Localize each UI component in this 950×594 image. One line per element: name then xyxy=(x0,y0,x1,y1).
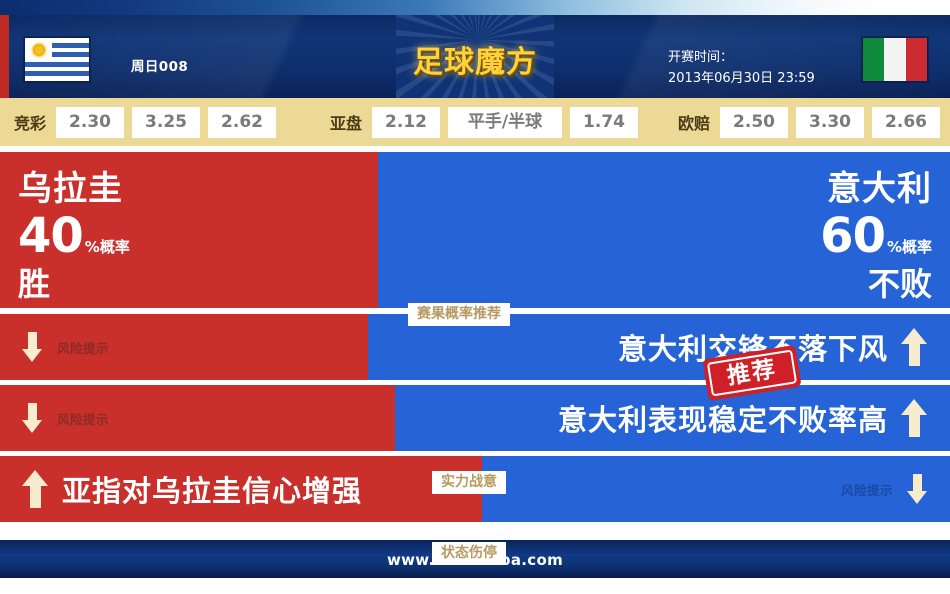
home-probability-line: 40%概率 xyxy=(18,212,130,260)
section-chip-strength[interactable]: 实力战意 xyxy=(432,471,506,494)
brand-logo[interactable]: 足球魔方 xyxy=(396,15,554,98)
arrow-down-icon xyxy=(22,332,43,362)
arrow-down-icon xyxy=(22,403,43,433)
probability-panel: 乌拉圭 40%概率 胜 意大利 60%概率 不败 xyxy=(0,152,950,308)
logo-text: 足球魔方 xyxy=(396,37,554,81)
bottom-white-strip xyxy=(0,578,950,594)
odds-cell-home[interactable]: 2.30 xyxy=(56,107,124,138)
arrow-down-icon xyxy=(907,474,928,504)
row-blue-side: 意大利表现稳定不败率高 xyxy=(395,385,950,451)
risk-note-left: 风险提示 xyxy=(22,332,109,362)
odds-group-oupei: 欧赔 2.50 3.30 2.66 xyxy=(678,98,948,146)
section-chip-probability[interactable]: 赛果概率推荐 xyxy=(408,303,510,326)
row-headline-text: 亚指对乌拉圭信心增强 xyxy=(62,468,362,510)
row-blue-side: 风险提示 xyxy=(482,456,950,522)
analysis-body: 乌拉圭 40%概率 胜 意大利 60%概率 不败 本场比赛乌拉圭获胜概率40%，… xyxy=(0,146,950,540)
away-team-name: 意大利 xyxy=(820,172,932,206)
odds-cell-handicap[interactable]: 平手/半球 xyxy=(448,107,562,138)
risk-note-text: 风险提示 xyxy=(57,409,109,428)
risk-note-text: 风险提示 xyxy=(841,480,893,499)
analysis-row-form: 风险提示 意大利表现稳定不败率高 xyxy=(0,385,950,451)
arrow-up-icon xyxy=(22,470,49,508)
odds-group-yapan: 亚盘 2.12 平手/半球 1.74 xyxy=(330,98,646,146)
match-code-label: 周日008 xyxy=(131,55,188,75)
odds-cell-draw[interactable]: 3.25 xyxy=(132,107,200,138)
odds-cell-draw[interactable]: 3.30 xyxy=(796,107,864,138)
away-probability-suffix: %概率 xyxy=(887,238,932,256)
odds-cell-away[interactable]: 2.66 xyxy=(872,107,940,138)
odds-cell-home[interactable]: 2.50 xyxy=(720,107,788,138)
kickoff-value: 2013年06月30日 23:59 xyxy=(668,68,815,89)
row-red-side: 风险提示 xyxy=(0,314,368,380)
arrow-up-icon xyxy=(901,328,928,366)
stamp-text: 推荐 xyxy=(726,358,779,389)
odds-group-label: 欧赔 xyxy=(678,110,710,134)
italy-flag-icon xyxy=(862,37,928,82)
risk-note-right: 风险提示 xyxy=(841,474,928,504)
odds-bar: 竞彩 2.30 3.25 2.62 亚盘 2.12 平手/半球 1.74 欧赔 … xyxy=(0,98,950,146)
odds-cell-away[interactable]: 2.62 xyxy=(208,107,276,138)
odds-cell-home[interactable]: 2.12 xyxy=(372,107,440,138)
kickoff-label: 开赛时间： xyxy=(668,47,815,68)
infographic-page: 周日008 足球魔方 开赛时间： 2013年06月30日 23:59 竞彩 2.… xyxy=(0,0,950,594)
kickoff-time-block: 开赛时间： 2013年06月30日 23:59 xyxy=(668,47,815,89)
odds-group-label: 亚盘 xyxy=(330,110,362,134)
odds-group-jingcai: 竞彩 2.30 3.25 2.62 xyxy=(14,98,284,146)
row-red-side: 亚指对乌拉圭信心增强 xyxy=(0,456,482,522)
arrow-up-icon xyxy=(901,399,928,437)
home-probability-value: 40 xyxy=(18,208,83,264)
top-gradient-strip xyxy=(0,0,950,15)
uruguay-flag-icon xyxy=(24,37,90,82)
risk-note-left: 风险提示 xyxy=(22,403,109,433)
section-chip-form[interactable]: 状态伤停 xyxy=(432,542,506,565)
header-accent-bar xyxy=(0,15,9,98)
away-team-block: 意大利 60%概率 不败 xyxy=(820,172,932,300)
odds-group-label: 竞彩 xyxy=(14,110,46,134)
away-probability-line: 60%概率 xyxy=(820,212,932,260)
risk-note-text: 风险提示 xyxy=(57,338,109,357)
row-headline-block: 意大利表现稳定不败率高 xyxy=(558,397,928,439)
row-red-side: 风险提示 xyxy=(0,385,395,451)
match-header: 周日008 足球魔方 开赛时间： 2013年06月30日 23:59 xyxy=(0,15,950,98)
home-result-label: 胜 xyxy=(18,268,130,300)
odds-cell-away[interactable]: 1.74 xyxy=(570,107,638,138)
row-headline-block: 亚指对乌拉圭信心增强 xyxy=(22,468,362,510)
away-probability-value: 60 xyxy=(820,208,885,264)
row-headline-text: 意大利表现稳定不败率高 xyxy=(558,397,888,439)
home-probability-suffix: %概率 xyxy=(85,238,130,256)
away-result-label: 不败 xyxy=(820,268,932,300)
home-team-block: 乌拉圭 40%概率 胜 xyxy=(18,172,130,300)
home-team-name: 乌拉圭 xyxy=(18,172,130,206)
